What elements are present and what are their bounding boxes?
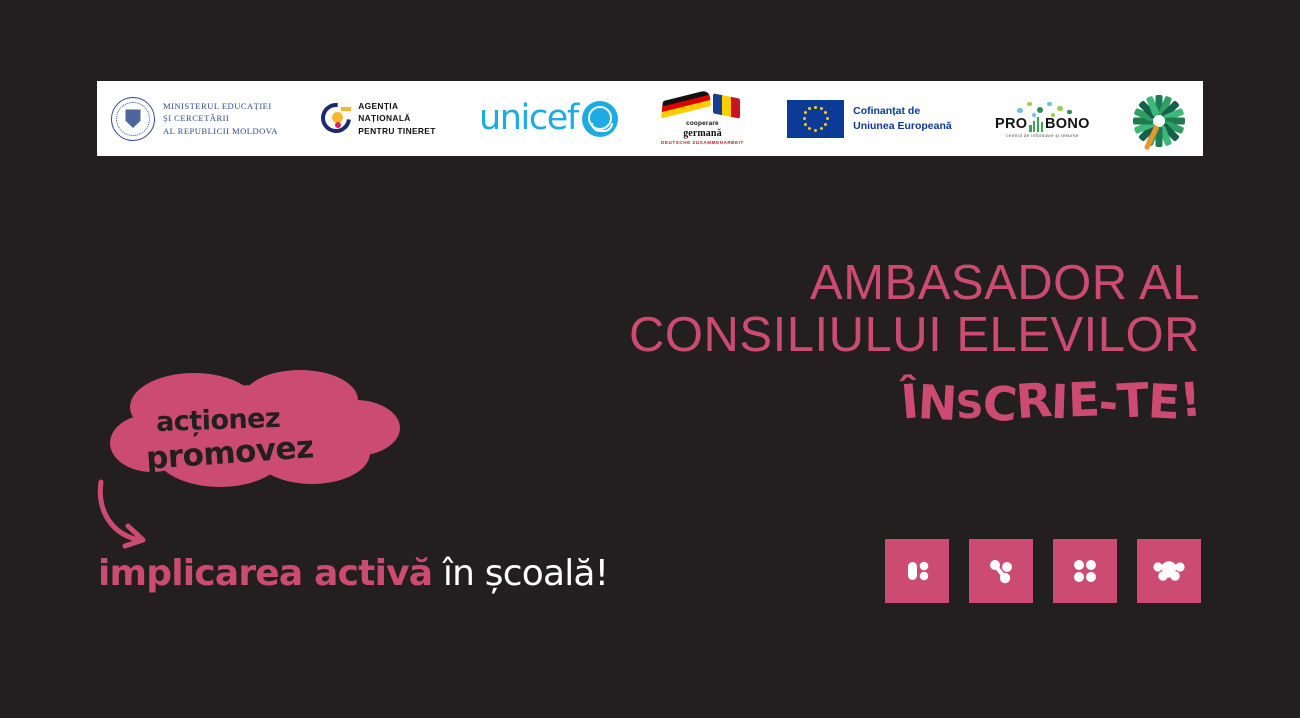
pro-bono-node xyxy=(1047,102,1051,106)
two-dots-vertical-icon xyxy=(902,556,932,586)
unicef-wordmark: unicef xyxy=(479,101,578,136)
icon-square-row xyxy=(885,539,1201,603)
pro-bono-word2: BONO xyxy=(1045,117,1090,132)
six-dots-flower-icon xyxy=(1152,556,1186,586)
german-moldovan-flags-icon xyxy=(662,93,742,119)
eu-star xyxy=(808,127,811,130)
eu-star xyxy=(824,123,827,126)
partner-logo-european-union: Cofinanțat de Uniunea Europeană xyxy=(787,81,952,156)
pro-bono-word1: PRO xyxy=(995,117,1027,132)
ant-logo-text: AGENȚIA NAȚIONALĂ PENTRU TINERET xyxy=(358,100,436,138)
eu-star xyxy=(804,123,807,126)
eu-star xyxy=(804,111,807,114)
cta-letter: S xyxy=(955,385,983,424)
eu-flag-icon xyxy=(787,100,844,138)
partner-logo-bar: MINISTERUL EDUCAȚIEI ȘI CERCETĂRII AL RE… xyxy=(97,81,1203,156)
cta-letter: R xyxy=(1014,377,1052,426)
pro-bono-node xyxy=(1017,108,1022,113)
cta-letter: E xyxy=(1067,376,1100,424)
unicef-globe-icon xyxy=(582,101,618,137)
pro-bono-network-icon xyxy=(1013,99,1071,117)
ant-circle-icon xyxy=(321,103,351,133)
cta-letter: N xyxy=(917,379,958,428)
cta-inscrie-te[interactable]: ÎNSCRIE-TE! xyxy=(901,378,1200,425)
cta-letter: T xyxy=(1116,377,1149,426)
pro-bono-node xyxy=(1067,110,1072,115)
german-coop-line1: cooperare xyxy=(686,120,719,127)
curved-arrow-icon xyxy=(95,478,210,550)
eu-star xyxy=(814,129,817,132)
icon-square-4[interactable] xyxy=(1137,539,1201,603)
sunburst-icon xyxy=(1133,93,1185,145)
eu-star xyxy=(814,106,817,109)
eu-star xyxy=(824,111,827,114)
partner-logo-national-youth-agency: AGENȚIA NAȚIONALĂ PENTRU TINERET xyxy=(321,81,436,156)
four-dots-grid-icon xyxy=(1070,556,1100,586)
partner-logo-german-cooperation: cooperare germană DEUTSCHE ZUSAMMENARBEI… xyxy=(661,81,744,156)
eu-star xyxy=(820,107,823,110)
pro-bono-node xyxy=(1032,113,1036,117)
pro-bono-node xyxy=(1037,107,1043,113)
partner-logo-sunburst xyxy=(1133,81,1185,156)
eu-star xyxy=(826,117,829,120)
german-coop-line2: germană xyxy=(683,128,721,139)
cta-letter: ! xyxy=(1177,376,1201,425)
page-headline: AMBASADOR AL CONSILIULUI ELEVILOR xyxy=(629,258,1200,362)
pro-bono-subtitle: centrul de informare și resurse xyxy=(1006,134,1079,139)
tagline-highlight: implicarea activă xyxy=(98,553,432,594)
german-coop-line3: DEUTSCHE ZUSAMMENARBEIT xyxy=(661,140,744,145)
eu-star xyxy=(820,127,823,130)
pro-bono-node xyxy=(1027,102,1031,106)
moldova-state-seal-icon xyxy=(111,97,155,141)
icon-square-2[interactable] xyxy=(969,539,1033,603)
eu-logo-text: Cofinanțat de Uniunea Europeană xyxy=(853,104,952,132)
partner-logo-ministry-of-education-moldova: MINISTERUL EDUCAȚIEI ȘI CERCETĂRII AL RE… xyxy=(111,81,278,156)
pro-bono-node xyxy=(1051,113,1055,117)
three-dots-cluster-icon xyxy=(986,556,1016,586)
pro-bono-wordmark: PRO BONO xyxy=(995,117,1090,132)
partner-logo-pro-bono: PRO BONO centrul de informare și resurse xyxy=(995,81,1090,156)
headline-line-2: CONSILIULUI ELEVILOR xyxy=(629,310,1200,362)
eu-star xyxy=(803,117,806,120)
cta-letter: C xyxy=(981,380,1018,429)
tagline-rest: în școală! xyxy=(432,553,608,594)
cta-letter: E xyxy=(1147,378,1181,427)
icon-square-3[interactable] xyxy=(1053,539,1117,603)
pro-bono-bars-icon xyxy=(1029,117,1043,132)
partner-logo-unicef: unicef xyxy=(479,81,618,156)
eu-star xyxy=(808,107,811,110)
ministry-logo-text: MINISTERUL EDUCAȚIEI ȘI CERCETĂRII AL RE… xyxy=(163,100,278,137)
tagline: implicarea activă în școală! xyxy=(98,553,608,594)
cta-letter: I xyxy=(1050,379,1068,427)
icon-square-1[interactable] xyxy=(885,539,949,603)
headline-line-1: AMBASADOR AL xyxy=(629,258,1200,310)
pro-bono-node xyxy=(1057,106,1062,111)
